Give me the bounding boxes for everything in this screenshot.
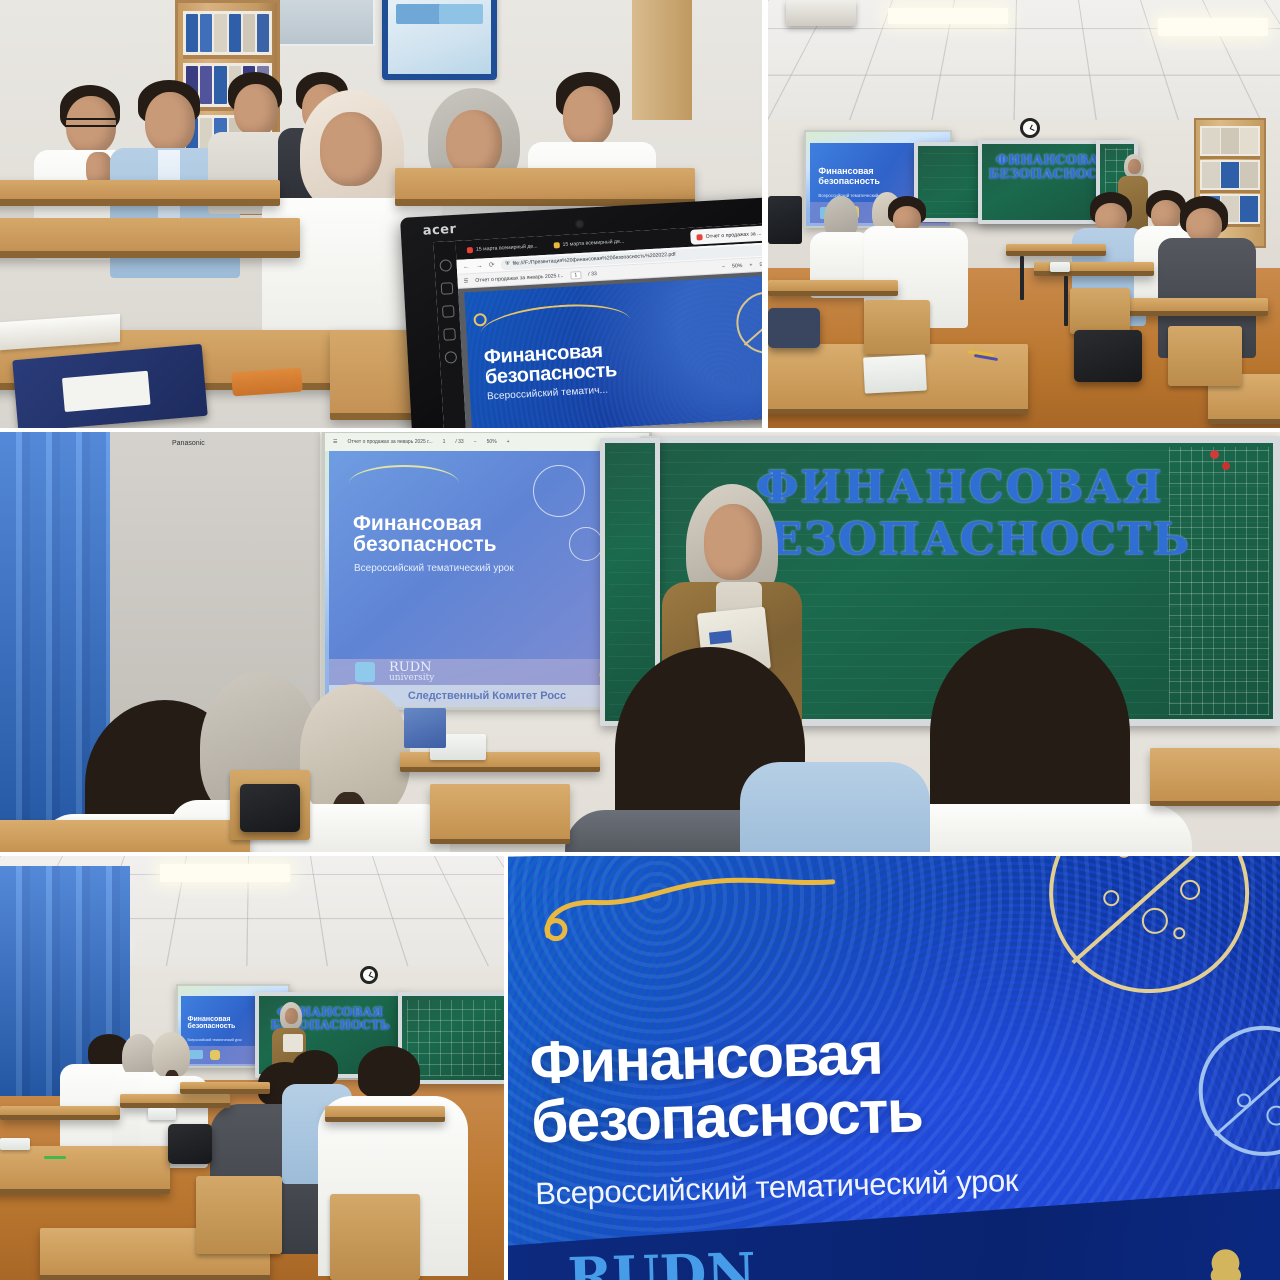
projected-title: Финансовая безопасность [818, 167, 880, 186]
notebook-2 [148, 1108, 176, 1120]
rudn-logo-text: RUDN university [389, 661, 434, 683]
tab-label: 15 марта всемирный де... [476, 243, 538, 252]
paper-logo [709, 630, 732, 644]
projected-zoom-in: + [507, 439, 510, 445]
desktop-monitor [768, 196, 802, 244]
gutter-horizontal-upper [0, 428, 1280, 432]
pencil-case [231, 368, 303, 397]
desk-right-row [395, 168, 695, 206]
projected-emblem-small-icon [569, 527, 603, 561]
emblem-coin [1173, 927, 1185, 939]
wall-cabinet [632, 0, 692, 120]
projected-slide-body: Финансовая безопасность Всероссийский те… [329, 451, 645, 659]
chair-2 [1070, 288, 1130, 334]
panel-students-at-desks: acer 15 марта всемирный де... [0, 0, 762, 428]
desk-leg [1020, 256, 1024, 300]
pdf-page-input[interactable]: 1 [570, 270, 581, 279]
zoom-in-button[interactable]: + [749, 262, 752, 268]
pdf-page-total: / 33 [588, 271, 597, 277]
desk-front [430, 784, 570, 844]
desk-1 [0, 1106, 120, 1120]
emblem-coin [1103, 890, 1119, 906]
poster-title: Финансовая безопасность [529, 1023, 923, 1151]
chair-1 [864, 300, 930, 354]
projected-squiggle [349, 465, 459, 487]
projected-slide-title: Финансовая безопасность [353, 513, 497, 556]
projected-zoom: 50% [487, 439, 497, 445]
board-square-grid [407, 1000, 501, 1076]
bag-on-chair [168, 1124, 212, 1164]
projected-subtitle: Всероссийский тематический урок [188, 1038, 242, 1042]
emblem-coin [1180, 880, 1201, 901]
monitor-screen: 15 марта всемирный де... 15 марта всемир… [433, 223, 762, 428]
ceiling-light-2 [1158, 18, 1268, 36]
notebook [0, 1138, 30, 1150]
gold-squiggle-decoration [536, 866, 838, 944]
folder-label [62, 371, 151, 412]
panel-slide-closeup: Финансовая безопасность Всероссийский те… [508, 856, 1280, 1280]
projected-menu-icon: ☰ [333, 439, 337, 445]
wall-clock [360, 966, 378, 984]
back-icon[interactable]: ← [463, 263, 470, 270]
projected-page: 1 [443, 439, 446, 445]
notebook-on-desk [863, 354, 927, 393]
desk-leg [1064, 276, 1068, 326]
gutter-vertical-top [762, 0, 768, 432]
sidebar-profile-icon[interactable] [439, 259, 452, 272]
forward-icon[interactable]: → [476, 262, 483, 269]
zoom-out-button[interactable]: − [722, 263, 725, 269]
tab-favicon-pdf [697, 234, 703, 240]
browser-tab-3-active[interactable]: Отчет о продажах за ... ✕ [690, 225, 762, 245]
rudn-logo-icon [189, 1050, 203, 1059]
emblem-coin [1142, 908, 1169, 935]
coat-of-arms-icon [1205, 1246, 1246, 1280]
pdf-menu-icon[interactable]: ☰ [463, 278, 468, 284]
desk-2 [120, 1094, 230, 1108]
binder-on-desk [404, 708, 446, 748]
desk-4 [768, 280, 898, 296]
chair-bag [240, 784, 300, 832]
desk-middle-row [0, 218, 300, 258]
slide-title: Финансовая безопасность [483, 340, 617, 388]
projected-title: Финансовая безопасность [188, 1016, 236, 1031]
tab-favicon [467, 246, 473, 252]
pdf-page-stage: Финансовая безопасность Всероссийский те… [458, 271, 762, 428]
teacher-tablet [283, 1034, 303, 1052]
ceiling-light-1 [888, 8, 1008, 24]
emblem-coin [1267, 1105, 1280, 1126]
desk-left-front [0, 820, 250, 852]
emblem-coin [1117, 856, 1131, 858]
magnet-red [1210, 450, 1219, 459]
emblem-slash [744, 301, 762, 345]
projected-page-total: / 33 [455, 439, 463, 445]
desk-back-row [0, 180, 280, 206]
sidebar-bookmarks-icon[interactable] [441, 282, 454, 295]
rudn-logo-text: RUDN [567, 1240, 757, 1280]
desk-3 [0, 1146, 170, 1194]
presentation-slide-page-1: Финансовая безопасность Всероссийский те… [464, 273, 762, 428]
projected-slide-subtitle: Всероссийский тематический урок [354, 563, 514, 574]
sidebar-downloads-icon[interactable] [442, 305, 455, 318]
magnet-red-2 [1222, 462, 1230, 470]
sidebar-history-icon[interactable] [445, 351, 458, 364]
chair-3 [1168, 326, 1242, 386]
ceiling-light-1 [160, 864, 290, 882]
projected-filename: Отчет о продажах за январь 2025 г... [347, 439, 432, 445]
paper-on-desk [1050, 262, 1070, 272]
desk-1 [1006, 244, 1106, 256]
acer-monitor: acer 15 марта всемирный де... [400, 197, 762, 428]
pdf-filename: Отчет о продажах за январь 2025 г... [475, 272, 563, 283]
projected-logo-band: RUDN university [329, 659, 645, 685]
wall-poster-framed [382, 0, 497, 80]
sidebar-notes-icon[interactable] [443, 328, 456, 341]
panel-teacher-at-board: Panasonic ☰ Отчет о продажах за январь 2… [0, 432, 1280, 852]
panel-classroom-wide: Финансовая безопасность Всероссийский те… [768, 0, 1280, 428]
projected-emblem-icon [533, 465, 585, 517]
photo-collage: acer 15 марта всемирный де... [0, 0, 1280, 1280]
backpack [768, 308, 820, 348]
monitor-brand-label: acer [422, 222, 457, 239]
projected-zoom-out: − [474, 439, 477, 445]
pen-green [44, 1156, 66, 1159]
reload-icon[interactable]: ⟳ [489, 261, 495, 269]
gutter-vertical-bottom [504, 856, 508, 1280]
chair-2 [330, 1194, 420, 1280]
chair-1 [196, 1176, 282, 1254]
laptop-bag [1074, 330, 1142, 382]
desk-4 [180, 1082, 270, 1094]
coat-of-arms-icon [210, 1050, 220, 1060]
tab-favicon [553, 242, 559, 248]
wall-clock [1020, 118, 1040, 138]
slide-surface: Финансовая безопасность Всероссийский те… [508, 856, 1280, 1280]
toolbar-spacer [604, 267, 715, 273]
tab-label: Отчет о продажах за ... [706, 230, 762, 239]
zoom-level-label: 50% [732, 262, 743, 269]
projector-brand-label: Panasonic [172, 440, 205, 447]
desk-5 [325, 1106, 445, 1122]
tab-label: 15 марта всемирный де... [562, 238, 624, 247]
rudn-mark-icon [355, 662, 375, 682]
shield-icon: ⛨ [505, 260, 509, 267]
desk-right [1150, 748, 1280, 806]
eyeglasses [66, 118, 116, 127]
gutter-horizontal-lower [0, 852, 1280, 856]
ceiling-projector [786, 0, 856, 26]
panel-classroom-from-back: Финансовая безопасность Всероссийский те… [0, 856, 508, 1280]
